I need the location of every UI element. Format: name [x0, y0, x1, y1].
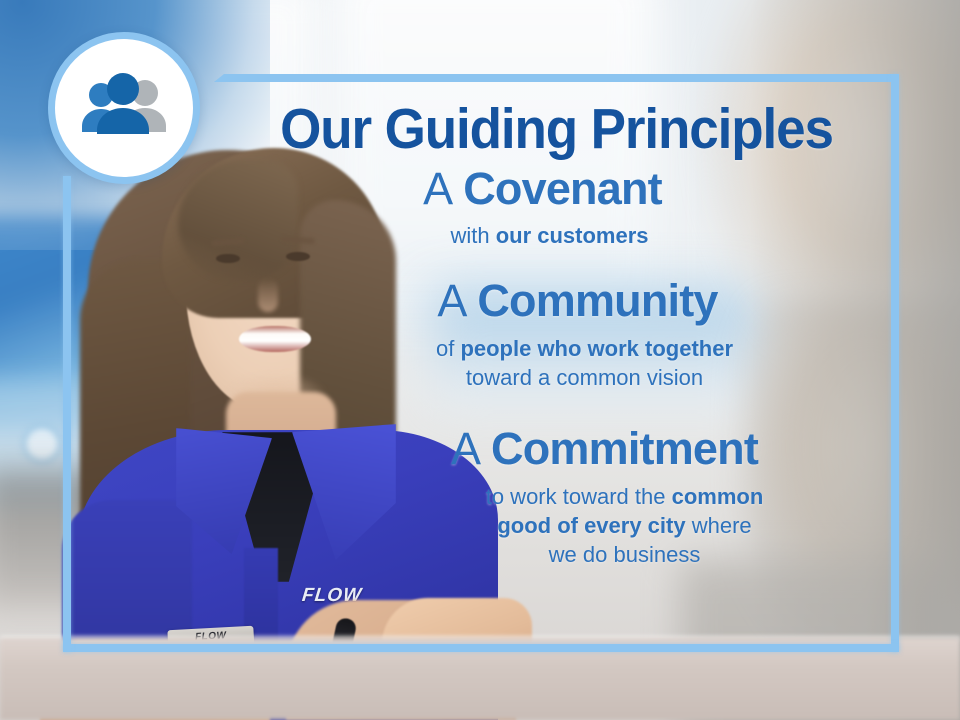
group-of-people-icon — [48, 32, 200, 184]
principle-commitment-detail-line-1: to work toward the common — [378, 482, 871, 511]
principle-covenant-detail-bold: our customers — [496, 223, 649, 248]
page-title: Our Guiding Principles — [264, 100, 849, 158]
principle-community-detail-line-2: toward a common vision — [298, 363, 871, 392]
guiding-principles-banner: FLOW FLOW AUTOMOTIVE — [0, 0, 960, 720]
principle-covenant: A Covenant with our customers — [242, 164, 871, 249]
principle-community-keyword: Community — [477, 275, 717, 326]
principle-community-detail-bold: people who work together — [460, 336, 733, 361]
principle-commitment-detail: to work toward the common good of every … — [242, 482, 871, 569]
principle-covenant-detail-lead: with — [450, 223, 495, 248]
principle-community-detail-line-1: of people who work together — [298, 334, 871, 363]
frame-border-left — [63, 176, 71, 652]
principle-covenant-article: A — [423, 163, 463, 214]
principle-covenant-keyword: Covenant — [463, 163, 662, 214]
principle-covenant-detail: with our customers — [242, 221, 871, 250]
principle-commitment-heading: A Commitment — [242, 424, 871, 474]
principle-commitment-detail-bold-2: good of every city — [497, 513, 685, 538]
principle-commitment-detail-line-2: good of every city where — [378, 511, 871, 540]
principle-commitment-detail-bold-1: common — [672, 484, 764, 509]
principle-commitment-article: A — [451, 423, 491, 474]
principle-community: A Community of people who work together … — [242, 276, 871, 392]
principle-commitment-detail-tail: where — [686, 513, 752, 538]
principle-commitment-detail-line-3: we do business — [378, 540, 871, 569]
principle-community-article: A — [437, 275, 477, 326]
principle-commitment-keyword: Commitment — [491, 423, 758, 474]
principle-commitment: A Commitment to work toward the common g… — [242, 424, 871, 569]
principle-community-detail-lead: of — [436, 336, 460, 361]
text-content: Our Guiding Principles A Covenant with o… — [214, 74, 899, 652]
principle-community-detail: of people who work together toward a com… — [242, 334, 871, 392]
principle-covenant-heading: A Covenant — [242, 164, 871, 214]
principle-community-heading: A Community — [242, 276, 871, 326]
principle-commitment-detail-lead: to work toward the — [486, 484, 672, 509]
